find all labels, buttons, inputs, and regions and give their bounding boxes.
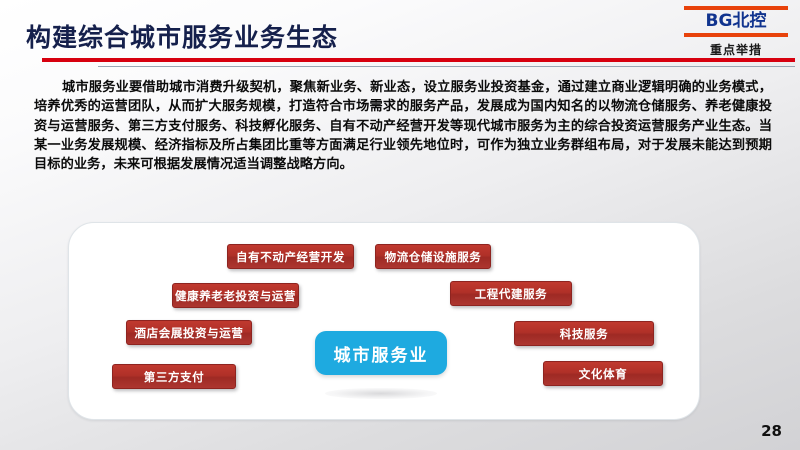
service-node[interactable]: 健康养老老投资与运营	[172, 283, 299, 308]
body-paragraph: 城市服务业要借助城市消费升级契机，聚焦新业务、新业态，设立服务业投资基金，通过建…	[34, 78, 772, 174]
service-node-label: 第三方支付	[144, 369, 205, 385]
service-node-label: 物流仓储设施服务	[385, 249, 482, 265]
center-node-shadow	[325, 388, 437, 399]
logo-subtitle: 重点举措	[680, 41, 792, 58]
center-node[interactable]: 城市服务业	[315, 331, 447, 375]
service-node-label: 科技服务	[560, 326, 608, 342]
service-node[interactable]: 第三方支付	[112, 364, 236, 389]
service-node-label: 文化体育	[579, 366, 627, 382]
service-node[interactable]: 物流仓储设施服务	[375, 244, 491, 269]
service-node[interactable]: 科技服务	[514, 321, 654, 346]
page-title: 构建综合城市服务业务生态	[26, 18, 338, 54]
service-node-label: 工程代建服务	[475, 286, 548, 302]
service-node[interactable]: 自有不动产经营开发	[227, 244, 354, 269]
title-underline-gray	[98, 66, 795, 67]
logo-wordmark: BG北控	[680, 12, 792, 31]
service-node[interactable]: 文化体育	[543, 361, 663, 386]
service-node-label: 健康养老老投资与运营	[175, 288, 296, 304]
service-node-label: 酒店会展投资与运营	[135, 325, 244, 341]
service-node[interactable]: 工程代建服务	[450, 281, 572, 306]
brand-logo: BG北控 重点举措	[680, 6, 792, 58]
slide-canvas: 构建综合城市服务业务生态 BG北控 重点举措 城市服务业要借助城市消费升级契机，…	[0, 0, 800, 450]
logo-bar-bottom-icon	[684, 33, 788, 37]
title-underline-red	[42, 58, 795, 62]
service-node[interactable]: 酒店会展投资与运营	[126, 320, 252, 345]
service-node-label: 自有不动产经营开发	[236, 249, 345, 265]
logo-bar-top-icon	[684, 6, 788, 10]
page-number: 28	[761, 422, 782, 440]
center-node-label: 城市服务业	[334, 341, 429, 366]
